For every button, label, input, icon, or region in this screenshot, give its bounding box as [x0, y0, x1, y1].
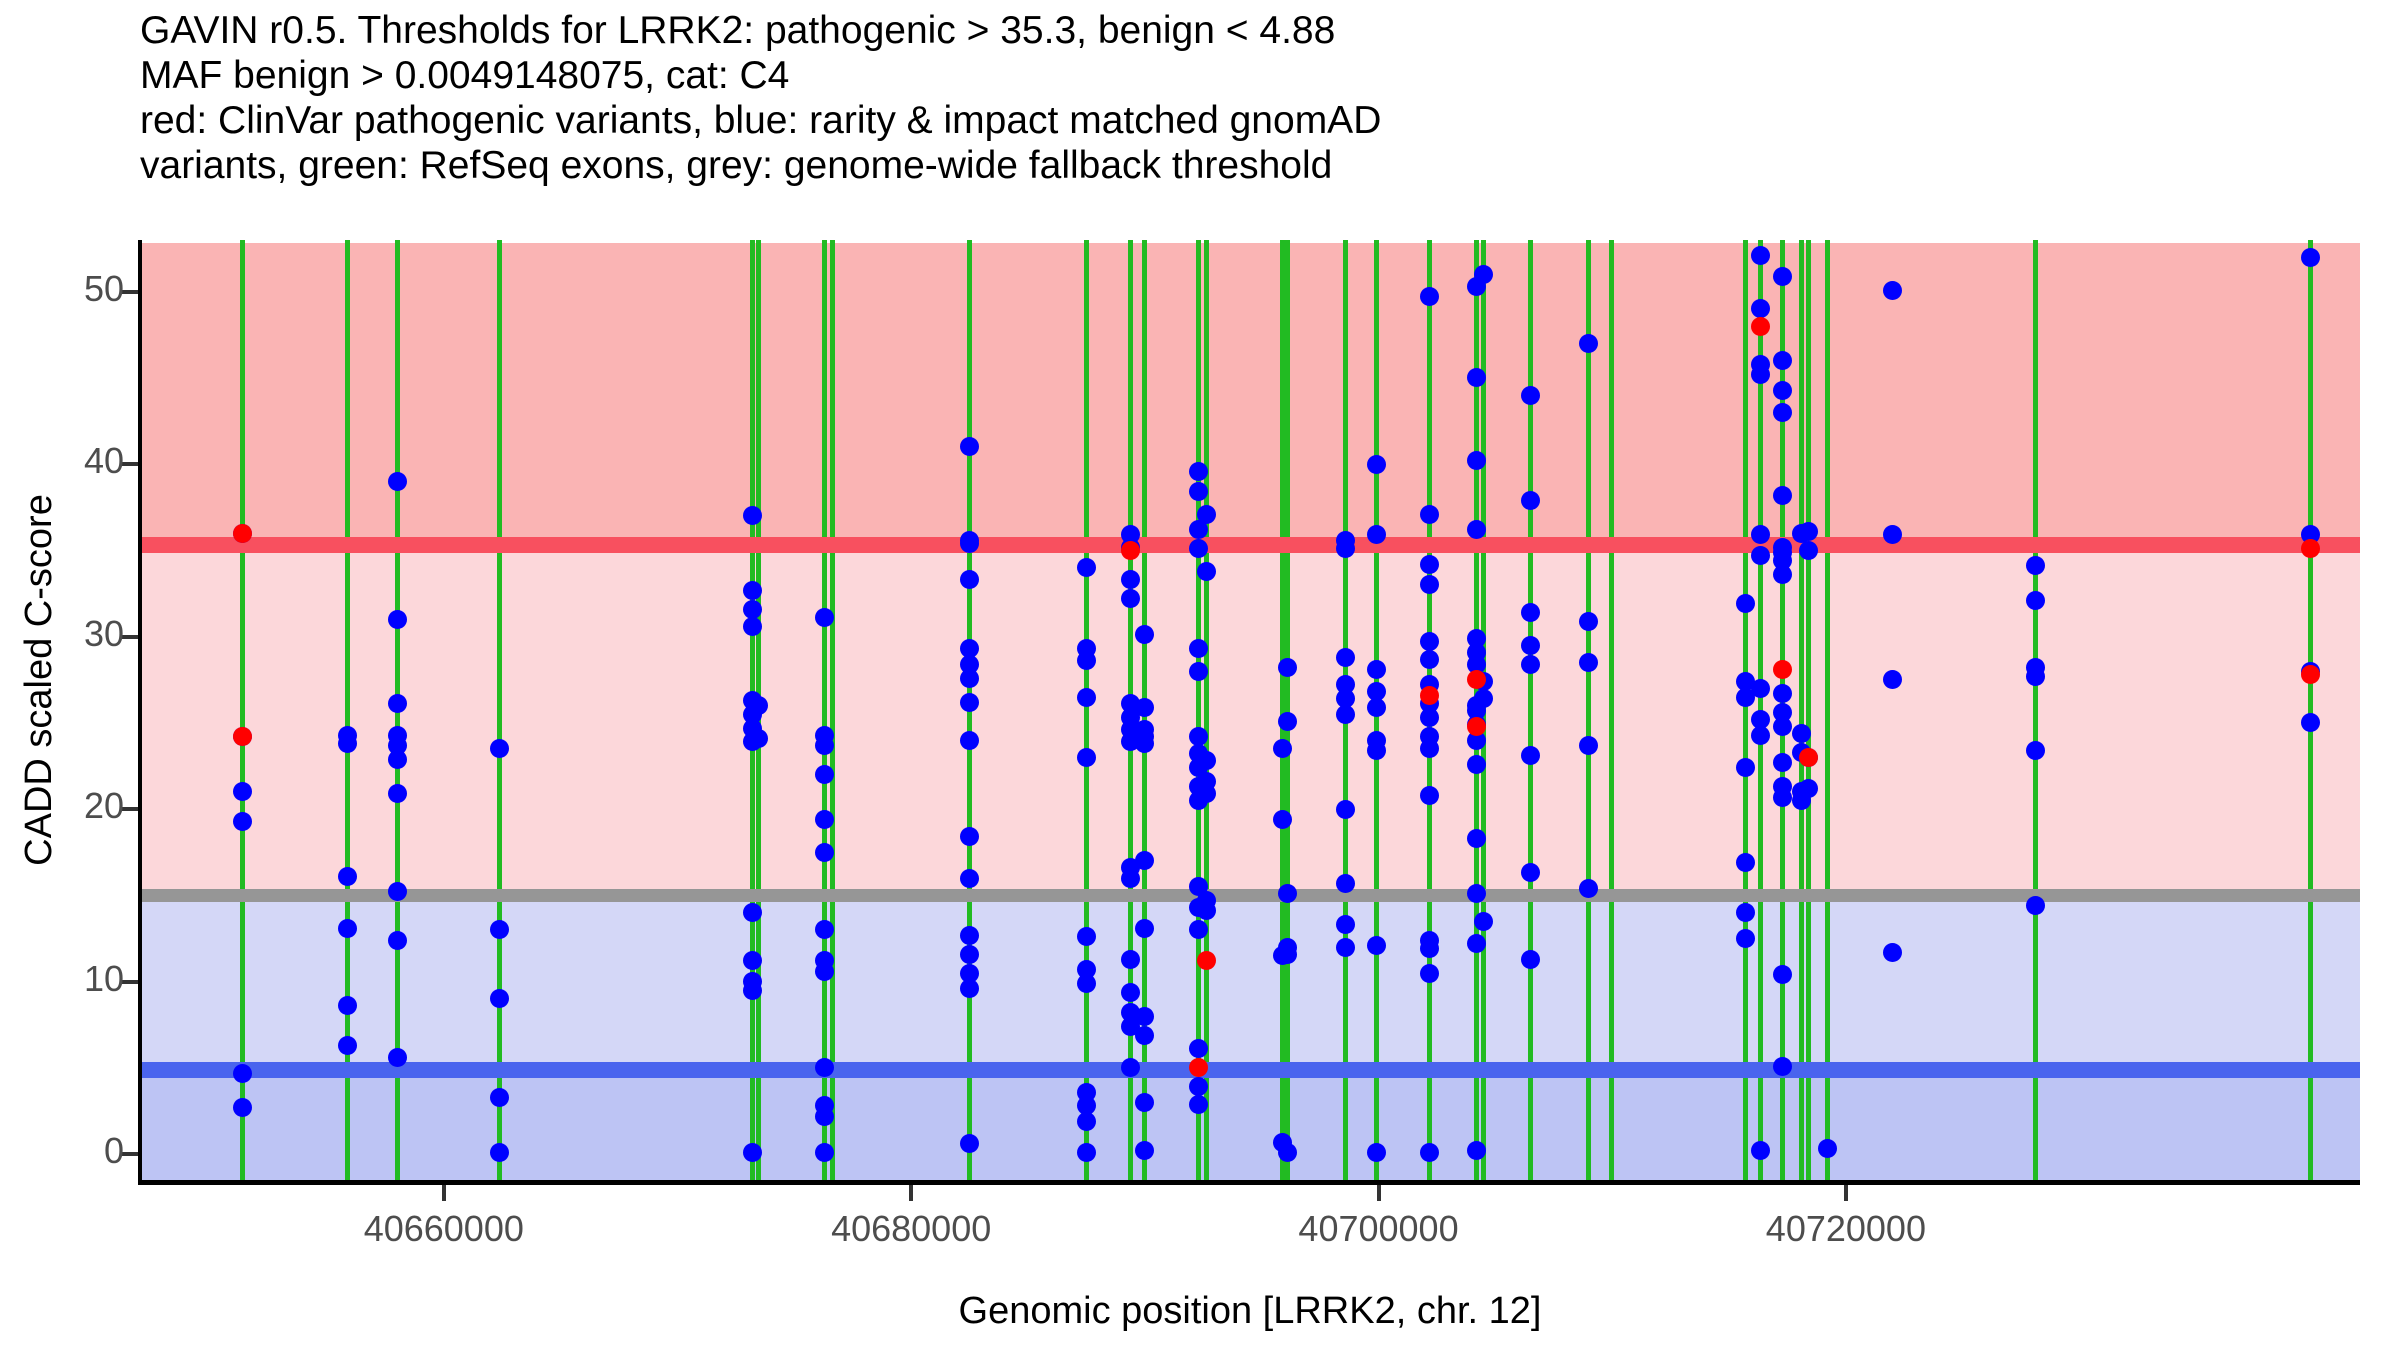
x-tick-label: 40700000 — [1219, 1208, 1539, 1250]
gnomad-variant-point — [1736, 903, 1755, 922]
gnomad-variant-point — [1773, 267, 1792, 286]
gnomad-variant-point — [960, 731, 979, 750]
gnomad-variant-point — [1189, 462, 1208, 481]
threshold-band — [140, 895, 2360, 1070]
refseq-exon-line — [1806, 240, 1811, 1180]
gnomad-variant-point — [1077, 1112, 1096, 1131]
y-axis-spine — [138, 240, 142, 1182]
gnomad-variant-point — [1751, 246, 1770, 265]
gnomad-variant-point — [1521, 746, 1540, 765]
gnomad-variant-point — [815, 736, 834, 755]
gnomad-variant-point — [1773, 381, 1792, 400]
gnomad-variant-point — [1197, 505, 1216, 524]
refseq-exon-line — [497, 240, 502, 1180]
gnomad-variant-point — [743, 981, 762, 1000]
gnomad-variant-point — [388, 931, 407, 950]
x-tick-label: 40660000 — [284, 1208, 604, 1250]
y-tick-mark — [122, 290, 138, 294]
gnomad-variant-point — [960, 693, 979, 712]
refseq-exon-line — [830, 240, 835, 1180]
gnomad-variant-point — [1367, 936, 1386, 955]
gnomad-variant-point — [1467, 755, 1486, 774]
gnomad-variant-point — [1367, 455, 1386, 474]
gnomad-variant-point — [1121, 983, 1140, 1002]
gnomad-variant-point — [743, 581, 762, 600]
refseq-exon-line — [1285, 240, 1290, 1180]
threshold-line — [140, 1062, 2360, 1078]
gnomad-variant-point — [1521, 950, 1540, 969]
x-axis-spine — [138, 1180, 2360, 1185]
refseq-exon-line — [822, 240, 827, 1180]
y-axis-title-text: CADD scaled C-score — [18, 180, 61, 1180]
gnomad-variant-point — [1077, 688, 1096, 707]
threshold-band — [140, 243, 2360, 545]
gnomad-variant-point — [960, 869, 979, 888]
chart-root: GAVIN r0.5. Thresholds for LRRK2: pathog… — [0, 0, 2400, 1350]
x-tick-label: 40680000 — [751, 1208, 1071, 1250]
gnomad-variant-point — [233, 812, 252, 831]
y-tick-mark — [122, 807, 138, 811]
gnomad-variant-point — [1883, 281, 1902, 300]
refseq-exon-line — [1799, 240, 1804, 1180]
gnomad-variant-point — [1278, 945, 1297, 964]
gnomad-variant-point — [960, 926, 979, 945]
gnomad-variant-point — [1135, 1007, 1154, 1026]
gnomad-variant-point — [1579, 612, 1598, 631]
gnomad-variant-point — [1189, 1095, 1208, 1114]
refseq-exon-line — [2308, 240, 2313, 1180]
plot-panel — [140, 240, 2360, 1180]
gnomad-variant-point — [1189, 662, 1208, 681]
clinvar-pathogenic-point — [1751, 317, 1770, 336]
x-tick-mark — [909, 1185, 913, 1201]
clinvar-pathogenic-point — [233, 524, 252, 543]
gnomad-variant-point — [1773, 788, 1792, 807]
gnomad-variant-point — [1336, 800, 1355, 819]
x-tick-mark — [1377, 1185, 1381, 1201]
refseq-exon-line — [1528, 240, 1533, 1180]
chart-title-block: GAVIN r0.5. Thresholds for LRRK2: pathog… — [140, 8, 2340, 188]
gnomad-variant-point — [815, 1143, 834, 1162]
gnomad-variant-point — [1799, 779, 1818, 798]
x-tick-mark — [442, 1185, 446, 1201]
gnomad-variant-point — [1773, 1057, 1792, 1076]
threshold-band — [140, 1070, 2360, 1180]
gnomad-variant-point — [1736, 853, 1755, 872]
gnomad-variant-point — [1367, 525, 1386, 544]
gnomad-variant-point — [1751, 726, 1770, 745]
gnomad-variant-point — [1521, 603, 1540, 622]
gnomad-variant-point — [1420, 964, 1439, 983]
refseq-exon-line — [1609, 240, 1614, 1180]
gnomad-variant-point — [1077, 1143, 1096, 1162]
gnomad-variant-point — [490, 1088, 509, 1107]
x-tick-label: 40720000 — [1686, 1208, 2006, 1250]
gnomad-variant-point — [1751, 679, 1770, 698]
gnomad-variant-point — [1077, 974, 1096, 993]
gnomad-variant-point — [743, 1143, 762, 1162]
y-tick-mark — [122, 462, 138, 466]
title-line-2: MAF benign > 0.0049148075, cat: C4 — [140, 53, 2340, 98]
gnomad-variant-point — [960, 979, 979, 998]
y-tick-mark — [122, 1152, 138, 1156]
threshold-line — [140, 537, 2360, 553]
gnomad-variant-point — [2026, 741, 2045, 760]
y-tick-mark — [122, 980, 138, 984]
gnomad-variant-point — [1367, 1143, 1386, 1162]
x-axis-title: Genomic position [LRRK2, chr. 12] — [140, 1290, 2360, 1333]
gnomad-variant-point — [388, 694, 407, 713]
refseq-exon-line — [1586, 240, 1591, 1180]
title-line-1: GAVIN r0.5. Thresholds for LRRK2: pathog… — [140, 8, 2340, 53]
clinvar-pathogenic-point — [1799, 748, 1818, 767]
gnomad-variant-point — [388, 1048, 407, 1067]
gnomad-variant-point — [960, 534, 979, 553]
title-line-3: red: ClinVar pathogenic variants, blue: … — [140, 98, 2340, 143]
y-tick-mark — [122, 635, 138, 639]
gnomad-variant-point — [233, 1064, 252, 1083]
gnomad-variant-point — [388, 750, 407, 769]
gnomad-variant-point — [1420, 650, 1439, 669]
gnomad-variant-point — [2026, 667, 2045, 686]
gnomad-variant-point — [1077, 558, 1096, 577]
gnomad-variant-point — [1135, 1026, 1154, 1045]
gnomad-variant-point — [1278, 712, 1297, 731]
refseq-exon-line — [240, 240, 245, 1180]
gnomad-variant-point — [388, 610, 407, 629]
gnomad-variant-point — [1799, 522, 1818, 541]
clinvar-pathogenic-point — [1467, 717, 1486, 736]
gnomad-variant-point — [1278, 658, 1297, 677]
title-line-4: variants, green: RefSeq exons, grey: gen… — [140, 143, 2340, 188]
gnomad-variant-point — [960, 945, 979, 964]
gnomad-variant-point — [1792, 724, 1811, 743]
gnomad-variant-point — [749, 729, 768, 748]
gnomad-variant-point — [388, 784, 407, 803]
refseq-exon-line — [1743, 240, 1748, 1180]
gnomad-variant-point — [1736, 929, 1755, 948]
gnomad-variant-point — [1121, 950, 1140, 969]
gnomad-variant-point — [1367, 660, 1386, 679]
x-tick-mark — [1844, 1185, 1848, 1201]
gnomad-variant-point — [815, 1107, 834, 1126]
gnomad-variant-point — [1336, 938, 1355, 957]
gnomad-variant-point — [815, 843, 834, 862]
refseq-exon-line — [1084, 240, 1089, 1180]
gnomad-variant-point — [1336, 874, 1355, 893]
refseq-exon-line — [1825, 240, 1830, 1180]
gnomad-variant-point — [743, 617, 762, 636]
gnomad-variant-point — [1121, 869, 1140, 888]
gnomad-variant-point — [1278, 1143, 1297, 1162]
gnomad-variant-point — [1751, 365, 1770, 384]
gnomad-variant-point — [743, 600, 762, 619]
gnomad-variant-point — [743, 903, 762, 922]
gnomad-variant-point — [1336, 705, 1355, 724]
gnomad-variant-point — [1521, 655, 1540, 674]
gnomad-variant-point — [1367, 698, 1386, 717]
gnomad-variant-point — [1521, 491, 1540, 510]
gnomad-variant-point — [960, 669, 979, 688]
gnomad-variant-point — [749, 696, 768, 715]
gnomad-variant-point — [1278, 884, 1297, 903]
gnomad-variant-point — [2026, 591, 2045, 610]
gnomad-variant-point — [388, 882, 407, 901]
gnomad-variant-point — [2026, 896, 2045, 915]
gnomad-variant-point — [1773, 486, 1792, 505]
gnomad-variant-point — [1077, 748, 1096, 767]
gnomad-variant-point — [1883, 943, 1902, 962]
gnomad-variant-point — [1135, 919, 1154, 938]
gnomad-variant-point — [1521, 386, 1540, 405]
gnomad-variant-point — [388, 472, 407, 491]
gnomad-variant-point — [1367, 741, 1386, 760]
refseq-exon-line — [1204, 240, 1209, 1180]
gnomad-variant-point — [1799, 541, 1818, 560]
gnomad-variant-point — [1474, 912, 1493, 931]
gnomad-variant-point — [815, 962, 834, 981]
refseq-exon-line — [2033, 240, 2038, 1180]
gnomad-variant-point — [1197, 562, 1216, 581]
gnomad-variant-point — [1521, 636, 1540, 655]
